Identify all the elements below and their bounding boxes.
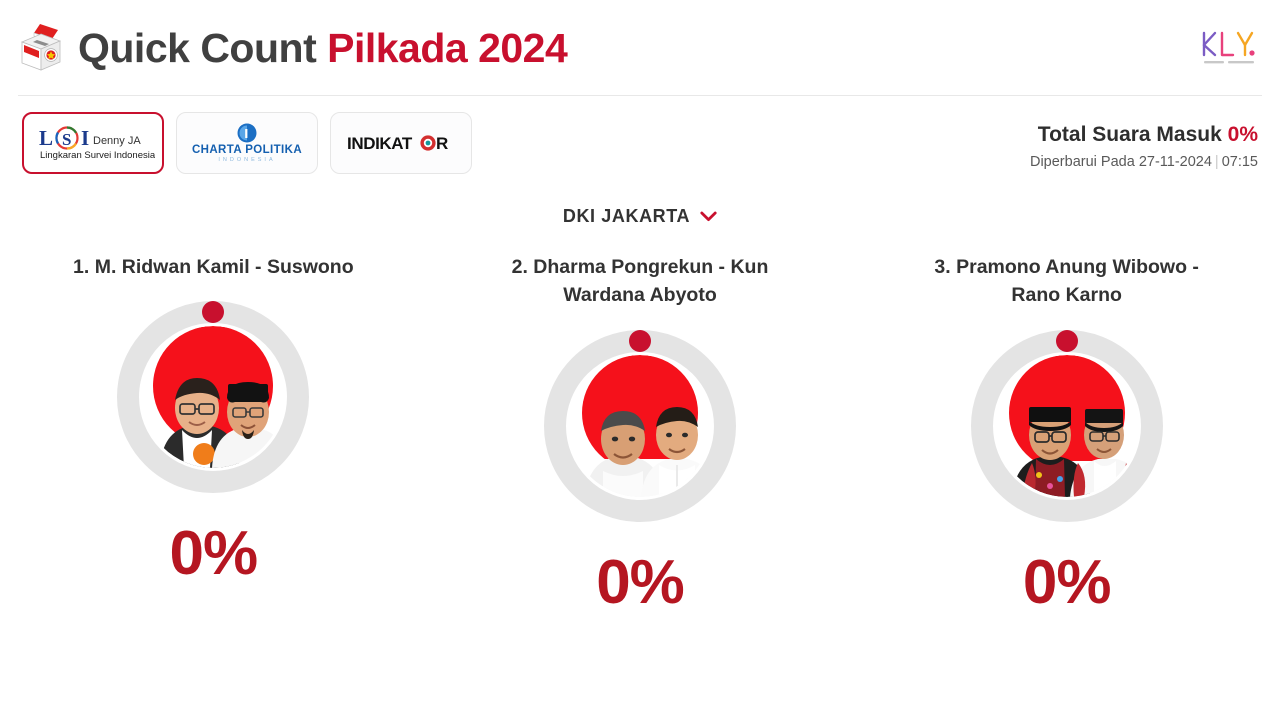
candidate-photo [569,355,711,497]
candidate-gauge [113,297,313,497]
candidate-gauge [967,326,1167,526]
tab-charta-politika[interactable]: CHARTA POLITIKA INDONESIA [176,112,318,174]
progress-marker-dot [629,330,651,352]
progress-marker-dot [1056,330,1078,352]
svg-text:R: R [436,134,448,153]
ballot-box-icon [18,22,64,74]
last-updated-time: 07:15 [1222,154,1258,170]
progress-marker-dot [202,301,224,323]
svg-text:L: L [39,126,53,150]
total-votes-line: Total Suara Masuk 0% [1030,122,1258,147]
quick-count-page: Quick Count Pilkada 2024 [0,0,1280,720]
svg-text:INDONESIA: INDONESIA [218,157,275,163]
region-selector[interactable]: DKI JAKARTA [563,206,717,227]
last-updated-date: 27-11-2024 [1139,154,1212,170]
candidate-card[interactable]: 3. Pramono Anung Wibowo - Rano Karno [853,253,1280,614]
total-votes-percent: 0% [1228,123,1258,146]
region-bar: DKI JAKARTA [0,206,1280,227]
last-updated-prefix: Diperbarui Pada [1030,154,1139,170]
candidate-photo [996,355,1138,497]
region-selected-label: DKI JAKARTA [563,206,690,227]
candidate-photo [142,326,284,468]
total-votes-label: Total Suara Masuk [1038,123,1228,146]
candidate-name: 1. M. Ridwan Kamil - Suswono [58,253,368,281]
svg-text:CHARTA POLITIKA: CHARTA POLITIKA [192,144,302,156]
svg-text:S: S [62,130,71,149]
last-updated-line: Diperbarui Pada 27-11-2024|07:15 [1030,154,1258,170]
indikator-logo: INDIKAT R [345,130,457,156]
page-title: Quick Count Pilkada 2024 [78,28,567,69]
charta-politika-logo: CHARTA POLITIKA INDONESIA [192,121,302,165]
candidate-percent: 0% [170,523,258,585]
svg-text:Denny JA: Denny JA [93,135,141,147]
last-updated-divider: | [1212,154,1222,170]
svg-text:Lingkaran Survei Indonesia: Lingkaran Survei Indonesia [40,150,155,161]
brand: Quick Count Pilkada 2024 [18,22,567,74]
candidate-percent: 0% [596,552,684,614]
page-title-accent: Pilkada 2024 [327,25,567,71]
candidate-name: 2. Dharma Pongrekun - Kun Wardana Abyoto [485,253,795,310]
svg-text:INDIKAT: INDIKAT [347,134,413,153]
total-votes-block: Total Suara Masuk 0% Diperbarui Pada 27-… [1030,112,1258,170]
candidate-gauge [540,326,740,526]
candidate-card[interactable]: 1. M. Ridwan Kamil - Suswono [0,253,427,614]
header-divider [18,95,1262,96]
candidate-name: 3. Pramono Anung Wibowo - Rano Karno [912,253,1222,310]
lsi-denny-ja-logo: L S I Denny JA Lingkaran Survei Indonesi… [31,123,155,163]
candidate-percent: 0% [1023,552,1111,614]
kly-logo [1198,25,1260,71]
pollster-tabs-row: L S I Denny JA Lingkaran Survei Indonesi… [0,96,1280,184]
page-title-main: Quick Count [78,25,327,71]
candidates-row: 1. M. Ridwan Kamil - Suswono [0,253,1280,614]
tab-lsi-denny-ja[interactable]: L S I Denny JA Lingkaran Survei Indonesi… [22,112,164,174]
tab-indikator[interactable]: INDIKAT R [330,112,472,174]
pollster-tabs: L S I Denny JA Lingkaran Survei Indonesi… [22,112,472,174]
svg-text:I: I [81,126,89,150]
chevron-down-icon [700,211,717,222]
page-header: Quick Count Pilkada 2024 [0,0,1280,96]
candidate-card[interactable]: 2. Dharma Pongrekun - Kun Wardana Abyoto [427,253,854,614]
